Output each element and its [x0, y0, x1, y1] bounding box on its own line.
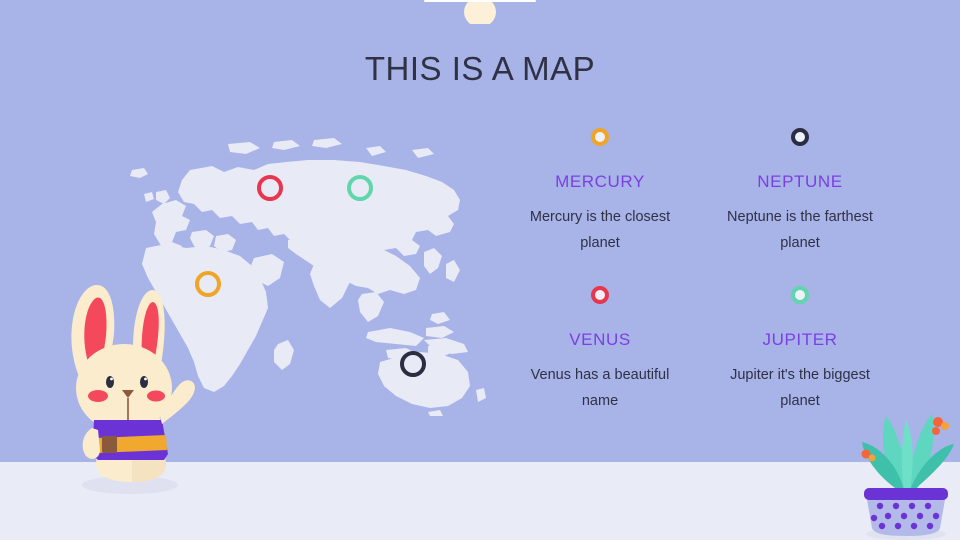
plant-flower-5: [869, 455, 876, 462]
ceiling-lamp: [420, 0, 540, 24]
rabbit-head: [76, 344, 172, 432]
rabbit-arm-left: [83, 428, 100, 459]
rabbit-character: [58, 278, 198, 494]
rabbit-eye-right: [140, 376, 148, 388]
map-marker-mercury[interactable]: [195, 271, 221, 297]
map-marker-jupiter[interactable]: [347, 175, 373, 201]
planet-info-grid: MERCURY Mercury is the closest planet NE…: [500, 128, 900, 440]
map-marker-neptune[interactable]: [400, 351, 426, 377]
rabbit-eye-left: [106, 376, 114, 388]
rabbit-cheek-right: [147, 391, 165, 402]
planet-dot-mercury-icon: [591, 128, 609, 146]
rabbit-cheek-left: [88, 390, 108, 402]
rabbit-eye-right-glint: [144, 378, 147, 381]
rabbit-eye-left-glint: [110, 378, 113, 381]
plant-leaf-5: [902, 420, 913, 490]
potted-cactus: [848, 392, 960, 540]
plant-pot-rim: [864, 488, 948, 500]
rabbit-buckle: [102, 436, 117, 453]
planet-dot-venus-icon: [591, 286, 609, 304]
planet-title-venus: VENUS: [569, 330, 631, 350]
lamp-bulb-icon: [464, 0, 496, 24]
planet-dot-neptune-icon: [791, 128, 809, 146]
planet-card-neptune[interactable]: NEPTUNE Neptune is the farthest planet: [700, 128, 900, 282]
map-marker-venus[interactable]: [257, 175, 283, 201]
planet-title-mercury: MERCURY: [555, 172, 645, 192]
planet-body-venus: Venus has a beautiful name: [520, 363, 680, 415]
planet-body-mercury: Mercury is the closest planet: [520, 205, 680, 257]
planet-dot-jupiter-icon: [791, 286, 809, 304]
planet-title-jupiter: JUPITER: [762, 330, 837, 350]
plant-flower-3: [932, 427, 940, 435]
plant-flower-2: [941, 422, 949, 430]
slide-canvas: THIS IS A MAP: [0, 0, 960, 540]
planet-body-neptune: Neptune is the farthest planet: [720, 205, 880, 257]
lamp-shade-icon: [424, 0, 536, 2]
planet-card-venus[interactable]: VENUS Venus has a beautiful name: [500, 286, 700, 440]
planet-title-neptune: NEPTUNE: [757, 172, 842, 192]
planet-card-mercury[interactable]: MERCURY Mercury is the closest planet: [500, 128, 700, 282]
page-title: THIS IS A MAP: [0, 50, 960, 88]
